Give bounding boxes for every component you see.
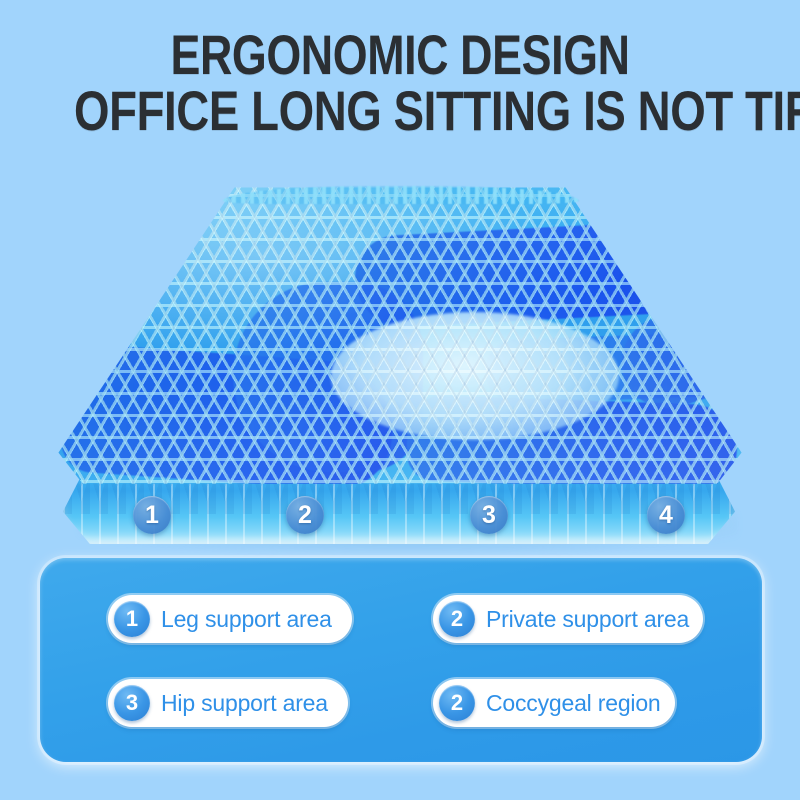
cushion-marker-4[interactable]: 4 [647,496,685,534]
legend-badge-3: 3 [114,685,150,721]
product-image-gel-seat-cushion: 1 2 3 4 [0,178,800,558]
cushion-marker-1[interactable]: 1 [133,496,171,534]
headline-line-2: OFFICE LONG SITTING IS NOT TIRED [74,84,726,138]
legend-item-private-support-area[interactable]: 2 Private support area [433,595,703,643]
legend-cell-2: 2 Private support area [405,595,744,643]
cushion-top-rim-texture [223,186,579,204]
legend-label-3: Hip support area [161,690,328,717]
legend-cell-1: 1 Leg support area [60,595,399,643]
legend-label-4: Coccygeal region [486,690,661,717]
legend-cell-4: 2 Coccygeal region [405,679,744,727]
legend-item-hip-support-area[interactable]: 3 Hip support area [108,679,348,727]
headline-block: ERGONOMIC DESIGN OFFICE LONG SITTING IS … [0,28,800,138]
cushion-marker-3[interactable]: 3 [470,496,508,534]
legend-item-coccygeal-region[interactable]: 2 Coccygeal region [433,679,675,727]
honeycomb-cell-shadows [55,186,745,496]
legend-badge-4: 2 [439,685,475,721]
legend-grid: 1 Leg support area 2 Private support are… [40,558,762,762]
legend-label-1: Leg support area [161,606,332,633]
infographic-page: ERGONOMIC DESIGN OFFICE LONG SITTING IS … [0,0,800,800]
legend-badge-1: 1 [114,601,150,637]
legend-panel: 1 Leg support area 2 Private support are… [40,558,762,762]
cushion-marker-2[interactable]: 2 [286,496,324,534]
legend-label-2: Private support area [486,606,689,633]
cushion-body [55,186,745,546]
legend-item-leg-support-area[interactable]: 1 Leg support area [108,595,352,643]
legend-badge-2: 2 [439,601,475,637]
cushion-top-surface [55,186,745,496]
legend-cell-3: 3 Hip support area [60,679,399,727]
headline-line-1: ERGONOMIC DESIGN [80,28,720,82]
